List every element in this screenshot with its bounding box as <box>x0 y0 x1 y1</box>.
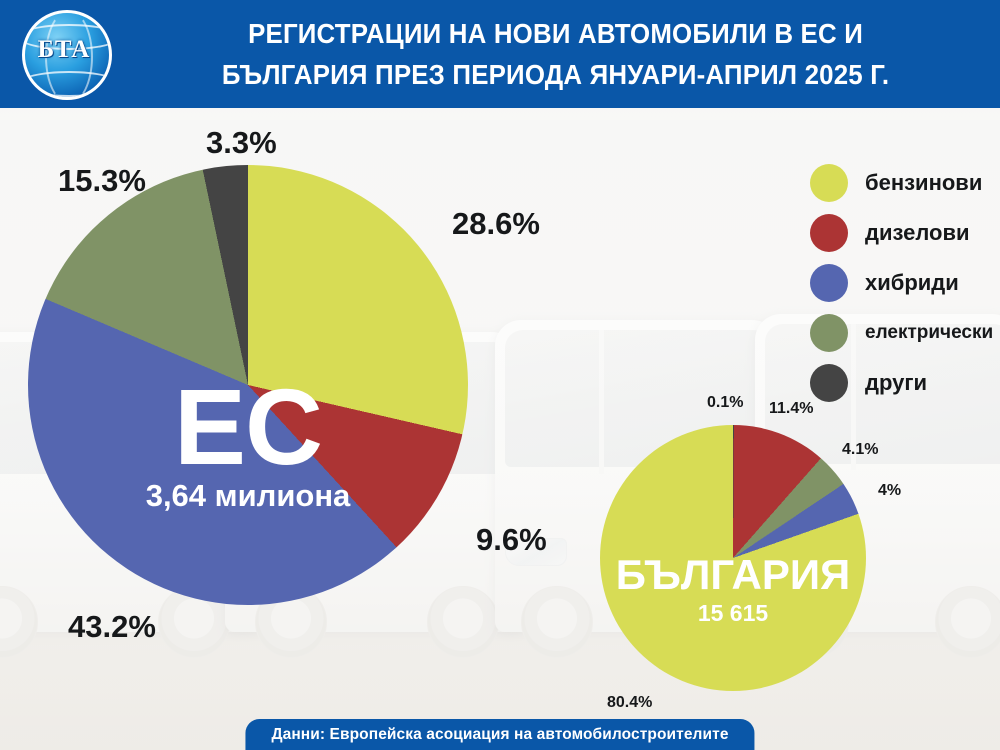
bg-label-other: 0.1% <box>707 394 743 412</box>
source-footnote: Данни: Европейска асоциация на автомобил… <box>245 719 754 750</box>
bg-label-petrol: 80.4% <box>607 694 652 712</box>
legend-label: хибриди <box>865 270 959 296</box>
legend-item-diesel[interactable]: дизелови <box>810 208 993 258</box>
logo-wordmark: БТА <box>0 38 128 62</box>
bg-label-diesel: 11.4% <box>769 400 813 418</box>
eu-label-hybrid: 43.2% <box>68 609 156 645</box>
bulgaria-pie-slices[interactable] <box>600 425 866 691</box>
legend-item-hybrid[interactable]: хибриди <box>810 258 993 308</box>
legend-label: други <box>865 370 927 396</box>
legend-item-other[interactable]: други <box>810 358 993 408</box>
eu-pie-chart: ЕС 3,64 милиона <box>28 165 468 605</box>
legend-swatch-icon <box>810 164 848 202</box>
eu-label-other: 3.3% <box>206 125 277 161</box>
legend-swatch-icon <box>810 314 848 352</box>
legend-item-petrol[interactable]: бензинови <box>810 158 993 208</box>
page-title: РЕГИСТРАЦИИ НА НОВИ АВТОМОБИЛИ В ЕС И БЪ… <box>154 13 974 95</box>
bta-globe-logo: БТА <box>0 4 128 104</box>
bulgaria-pie-chart: БЪЛГАРИЯ 15 615 <box>600 425 866 691</box>
legend: бензинови дизелови хибриди електрически … <box>810 158 993 408</box>
legend-swatch-icon <box>810 214 848 252</box>
legend-label: бензинови <box>865 170 982 196</box>
legend-swatch-icon <box>810 264 848 302</box>
legend-swatch-icon <box>810 364 848 402</box>
bg-label-electric: 4.1% <box>842 441 878 459</box>
legend-label: електрически <box>865 322 993 344</box>
infographic-canvas: БТА РЕГИСТРАЦИИ НА НОВИ АВТОМОБИЛИ В ЕС … <box>0 0 1000 750</box>
legend-item-electric[interactable]: електрически <box>810 308 993 358</box>
bg-label-hybrid: 4% <box>878 482 901 500</box>
legend-label: дизелови <box>865 220 970 246</box>
header-bar: БТА РЕГИСТРАЦИИ НА НОВИ АВТОМОБИЛИ В ЕС … <box>0 0 1000 108</box>
eu-label-electric: 15.3% <box>58 163 146 199</box>
title-line-2: БЪЛГАРИЯ ПРЕЗ ПЕРИОДА ЯНУАРИ-АПРИЛ 2025 … <box>154 54 957 95</box>
eu-pie-slices[interactable] <box>28 165 468 605</box>
title-line-1: РЕГИСТРАЦИИ НА НОВИ АВТОМОБИЛИ В ЕС И <box>154 13 957 54</box>
eu-label-petrol: 28.6% <box>452 206 540 242</box>
eu-label-diesel: 9.6% <box>476 522 547 558</box>
